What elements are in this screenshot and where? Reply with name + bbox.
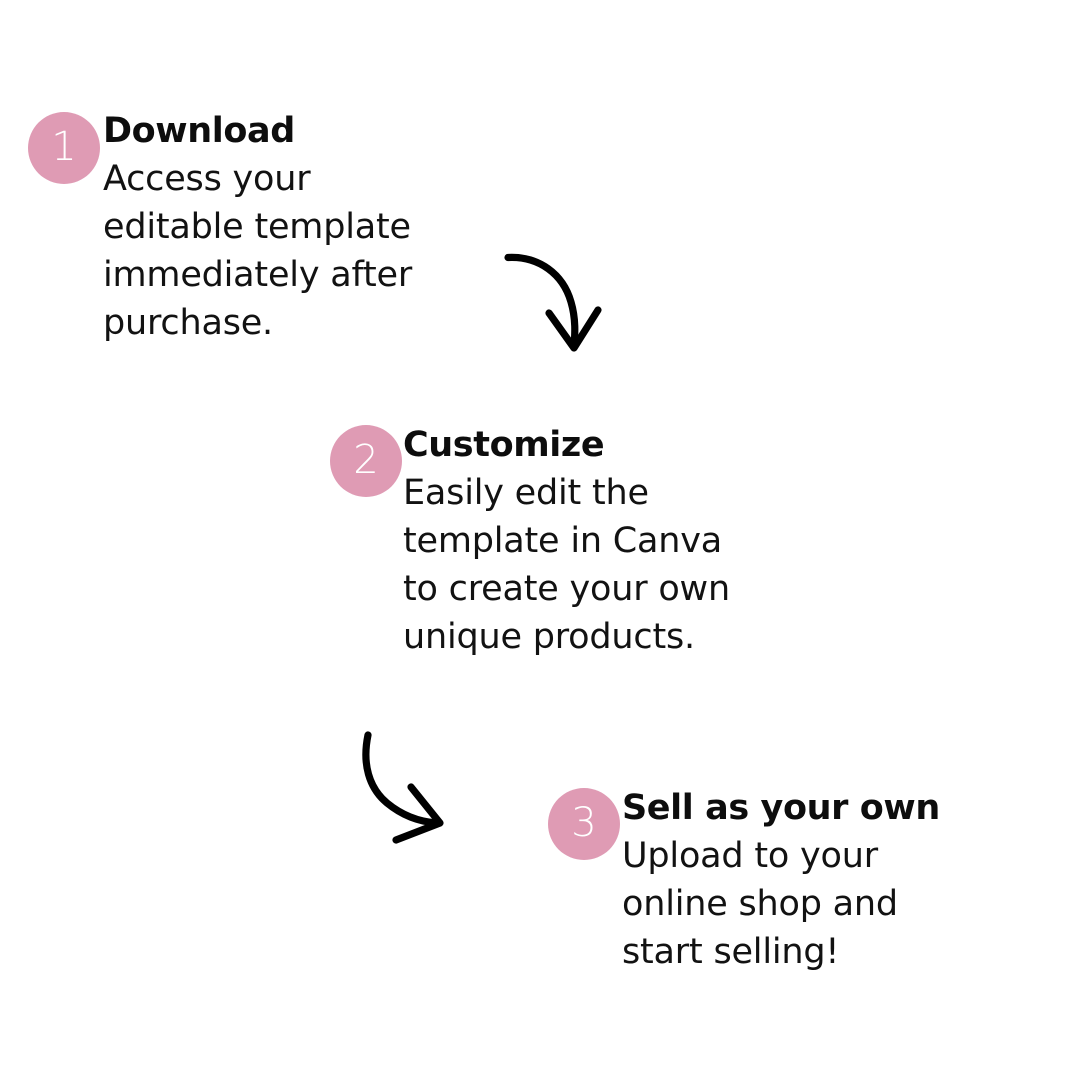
step-body-3: Upload to your online shop and start sel…: [622, 832, 972, 976]
step-text-block-1: Download Access your editable template i…: [103, 107, 443, 347]
curved-arrow-down-right-svg: [352, 718, 482, 858]
step-badge-2: 2: [330, 425, 402, 497]
step-text-block-3: Sell as your own Upload to your online s…: [622, 784, 972, 976]
step-number-3: 3: [571, 803, 596, 843]
step-heading-2: Customize: [403, 421, 753, 469]
step-number-2: 2: [353, 440, 378, 480]
step-body-1: Access your editable template immediatel…: [103, 155, 443, 347]
curved-arrow-down-right-icon: [352, 718, 482, 858]
step-heading-1: Download: [103, 107, 443, 155]
step-badge-1: 1: [28, 112, 100, 184]
step-body-2: Easily edit the template in Canva to cre…: [403, 469, 753, 661]
step-text-block-2: Customize Easily edit the template in Ca…: [403, 421, 753, 661]
step-number-1: 1: [51, 127, 76, 167]
curved-arrow-down-svg: [495, 240, 625, 370]
curved-arrow-down-icon: [495, 240, 625, 370]
infographic-canvas: 1 Download Access your editable template…: [0, 0, 1080, 1080]
step-heading-3: Sell as your own: [622, 784, 972, 832]
step-badge-3: 3: [548, 788, 620, 860]
